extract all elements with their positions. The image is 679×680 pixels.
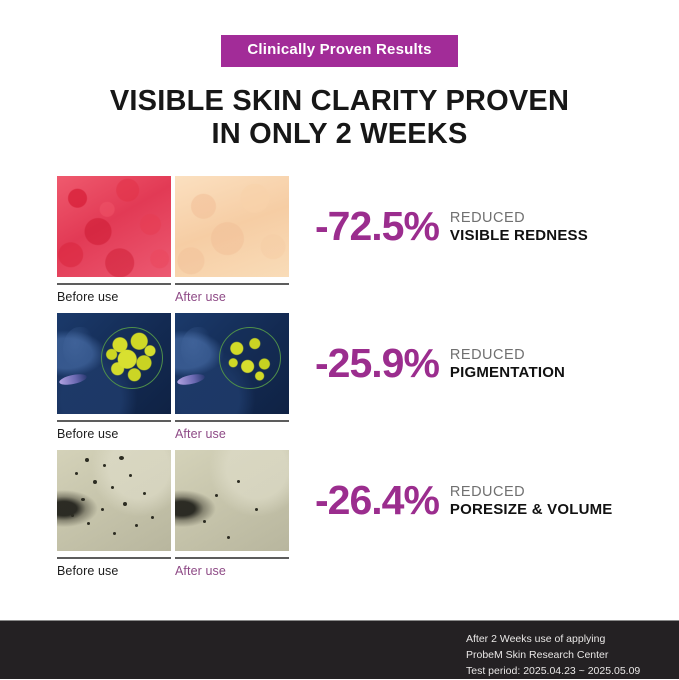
pore-speck (71, 514, 74, 517)
result-row: Before use After use -72.5% REDUCED VISI… (0, 176, 679, 304)
pore-speck (87, 522, 90, 525)
pore-speck (103, 464, 106, 467)
after-image-redness (175, 176, 289, 277)
before-use-label: Before use (57, 290, 171, 304)
stat-text: REDUCED VISIBLE REDNESS (450, 208, 588, 245)
footer-bar: After 2 Weeks use of applying ProbeM Ski… (0, 620, 679, 679)
uv-nose-shadow (181, 327, 211, 367)
headline-line-1: VISIBLE SKIN CLARITY PROVEN (40, 85, 639, 118)
divider (57, 557, 171, 559)
before-column: Before use (57, 450, 171, 578)
pore-speck (227, 536, 230, 539)
after-column: After use (175, 450, 289, 578)
stat-block: -72.5% REDUCED VISIBLE REDNESS (289, 176, 588, 247)
after-use-label: After use (175, 564, 289, 578)
stat-metric-name: PORESIZE & VOLUME (450, 501, 613, 519)
stat-metric-name: VISIBLE REDNESS (450, 227, 588, 245)
pore-speck (111, 486, 114, 489)
footer-line-2: ProbeM Skin Research Center (466, 648, 640, 664)
stat-reduced-word: REDUCED (450, 484, 613, 501)
clinically-proven-badge: Clinically Proven Results (221, 35, 457, 67)
pore-speck (113, 532, 116, 535)
stat-text: REDUCED PIGMENTATION (450, 345, 565, 382)
pore-speck (215, 494, 218, 497)
after-column: After use (175, 176, 289, 304)
after-use-label: After use (175, 427, 289, 441)
stat-reduced-word: REDUCED (450, 347, 565, 364)
divider (175, 283, 289, 285)
pore-speck (123, 502, 127, 506)
pore-speck (101, 508, 104, 511)
divider (57, 283, 171, 285)
stat-metric-name: PIGMENTATION (450, 364, 565, 382)
before-after-pair: Before use After use (57, 450, 289, 578)
pore-speck (203, 520, 206, 523)
pore-speck (129, 474, 132, 477)
results-list: Before use After use -72.5% REDUCED VISI… (0, 176, 679, 578)
footer-line-1: After 2 Weeks use of applying (466, 632, 640, 648)
stat-text: REDUCED PORESIZE & VOLUME (450, 482, 613, 519)
pore-speck (85, 458, 89, 462)
before-after-pair: Before use After use (57, 313, 289, 441)
uv-lip-highlight (176, 372, 205, 387)
before-column: Before use (57, 313, 171, 441)
divider (175, 557, 289, 559)
after-image-pores (175, 450, 289, 551)
pore-speck (255, 508, 258, 511)
stat-block: -26.4% REDUCED PORESIZE & VOLUME (289, 450, 613, 521)
stat-block: -25.9% REDUCED PIGMENTATION (289, 313, 565, 384)
before-image-pores (57, 450, 171, 551)
pore-speck (93, 480, 97, 484)
before-column: Before use (57, 176, 171, 304)
before-image-pigmentation (57, 313, 171, 414)
footer-line-3: Test period: 2025.04.23 ~ 2025.05.09 (466, 664, 640, 680)
before-use-label: Before use (57, 427, 171, 441)
after-image-pigmentation (175, 313, 289, 414)
after-column: After use (175, 313, 289, 441)
pore-speck (151, 516, 154, 519)
stat-percent: -26.4% (315, 480, 439, 521)
page-title: VISIBLE SKIN CLARITY PROVEN IN ONLY 2 WE… (0, 85, 679, 151)
result-row: Before use After use -25.9% REDUCED PIGM… (0, 313, 679, 441)
before-after-pair: Before use After use (57, 176, 289, 304)
pore-speck (135, 524, 138, 527)
uv-lip-highlight (58, 372, 87, 387)
footer-disclaimer: After 2 Weeks use of applying ProbeM Ski… (466, 632, 640, 680)
before-use-label: Before use (57, 564, 171, 578)
pore-speck (75, 472, 78, 475)
pore-speck (119, 456, 124, 460)
after-use-label: After use (175, 290, 289, 304)
pore-speck (143, 492, 146, 495)
badge-container: Clinically Proven Results (0, 0, 679, 67)
divider (57, 420, 171, 422)
uv-analysis-circle (219, 327, 281, 389)
stat-reduced-word: REDUCED (450, 210, 588, 227)
divider (175, 420, 289, 422)
stat-percent: -72.5% (315, 206, 439, 247)
pore-speck (237, 480, 240, 483)
headline-line-2: IN ONLY 2 WEEKS (40, 118, 639, 151)
stat-percent: -25.9% (315, 343, 439, 384)
pore-speck (81, 498, 85, 501)
result-row: Before use After use -26.4% REDUCED PORE… (0, 450, 679, 578)
before-image-redness (57, 176, 171, 277)
uv-analysis-circle (101, 327, 163, 389)
uv-nose-shadow (63, 327, 93, 367)
